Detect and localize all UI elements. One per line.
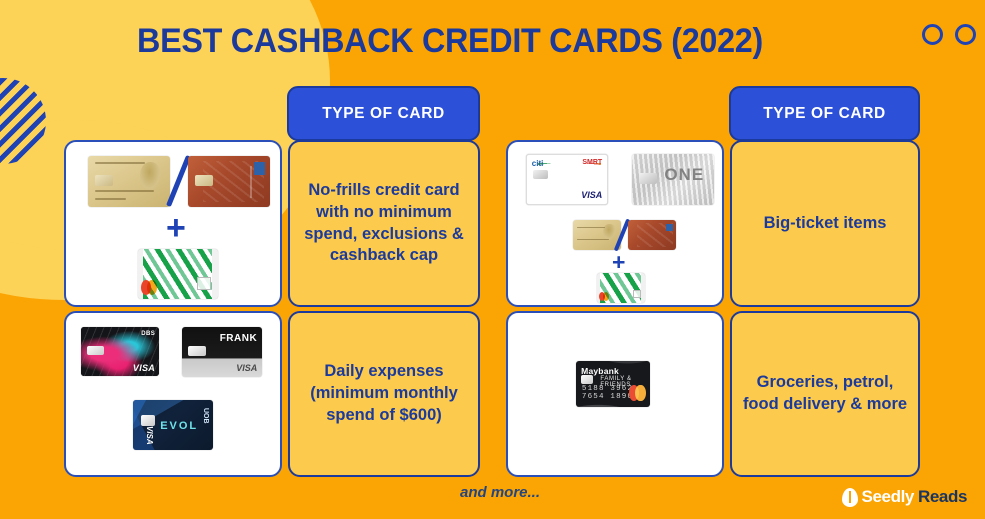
card-line [95, 198, 126, 200]
circle-outline-icon-left [922, 24, 943, 45]
credit-card-dbs-live-fresh: DBS VISA [81, 327, 159, 376]
card-chip-icon [141, 415, 155, 426]
credit-card-uob-evol: EVOL UOB VISA [133, 400, 213, 450]
card-panel-right-row2: Maybank FAMILY & FRIENDS 5188 3962 7654 … [506, 311, 724, 477]
logo-primary-text: Seedly [862, 487, 914, 507]
credit-card-amex-gold-small [573, 220, 621, 250]
page-title: BEST CASHBACK CREDIT CARDS (2022) [23, 22, 878, 61]
amex-blue-box [254, 162, 265, 175]
uob-logo: UOB [202, 408, 209, 424]
amex-centurion-art [603, 224, 615, 241]
card-line [577, 227, 605, 228]
visa-logo-icon: VISA [581, 190, 602, 200]
amex-centurion-art [140, 162, 161, 191]
mastercard-logo-icon [141, 280, 157, 295]
smrt-logo: SMRT [582, 159, 602, 166]
credit-card-amex-true-cashback [188, 156, 270, 207]
card-panel-right-row1: citi SMRT VISA ONE + [506, 140, 724, 307]
visa-logo-icon: VISA [133, 363, 155, 373]
and-more-text: and more... [350, 484, 650, 501]
seedly-reads-logo: Seedly Reads [842, 487, 967, 507]
seed-drop-icon [842, 488, 858, 507]
type-of-card-header-right: TYPE OF CARD [729, 86, 920, 141]
card-chip-icon [188, 346, 206, 356]
plus-separator-icon: + [166, 211, 186, 245]
card-chip-icon [87, 346, 104, 356]
logo-secondary-text: Reads [918, 487, 967, 507]
card-panel-left-row2: DBS VISA FRANK VISA EVOL UOB VISA [64, 311, 282, 477]
card-panel-left-row1: + [64, 140, 282, 307]
description-box-left-row2: Daily expenses (minimum monthly spend of… [288, 311, 480, 477]
credit-card-ocbc-one: ONE [632, 154, 714, 205]
card-chip-icon [195, 175, 213, 185]
description-box-right-row1: Big-ticket items [730, 140, 920, 307]
mastercard-logo-icon [629, 385, 645, 402]
one-logo: ONE [664, 165, 704, 185]
card-chip-icon [95, 175, 113, 185]
card-line [250, 166, 252, 198]
card-chip-icon [581, 375, 593, 384]
credit-card-standard-chartered-simply-cash-small [597, 273, 645, 303]
card-line [95, 190, 154, 192]
credit-card-citi-smrt: citi SMRT VISA [526, 154, 608, 205]
credit-card-maybank-family-friends: Maybank FAMILY & FRIENDS 5188 3962 7654 … [576, 361, 650, 407]
credit-card-amex-true-cashback-small [628, 220, 676, 250]
credit-card-standard-chartered-simply-cash [138, 249, 218, 299]
type-of-card-header-left: TYPE OF CARD [287, 86, 480, 141]
card-hologram [633, 290, 641, 298]
card-line [95, 162, 146, 164]
visa-logo-icon: VISA [236, 363, 257, 373]
card-chip-icon [639, 173, 657, 183]
mastercard-logo-icon [599, 292, 609, 301]
visa-logo-icon: VISA [145, 426, 154, 445]
amex-blue-box [666, 224, 673, 232]
card-line [577, 239, 609, 240]
credit-card-amex-gold [88, 156, 170, 207]
infographic-canvas: BEST CASHBACK CREDIT CARDS (2022) TYPE O… [0, 0, 985, 519]
evol-logo: EVOL [160, 420, 198, 432]
description-box-left-row1: No-frills credit card with no minimum sp… [288, 140, 480, 307]
card-chip-icon [533, 170, 547, 180]
plus-separator-icon: + [612, 251, 625, 274]
citi-logo: citi [532, 159, 544, 168]
dbs-logo: DBS [141, 331, 155, 337]
circle-outline-icon-right [955, 24, 976, 45]
credit-card-ocbc-frank: FRANK VISA [182, 327, 262, 377]
description-box-right-row2: Groceries, petrol, food delivery & more [730, 311, 920, 477]
card-hologram [197, 277, 211, 290]
frank-logo: FRANK [220, 333, 258, 344]
